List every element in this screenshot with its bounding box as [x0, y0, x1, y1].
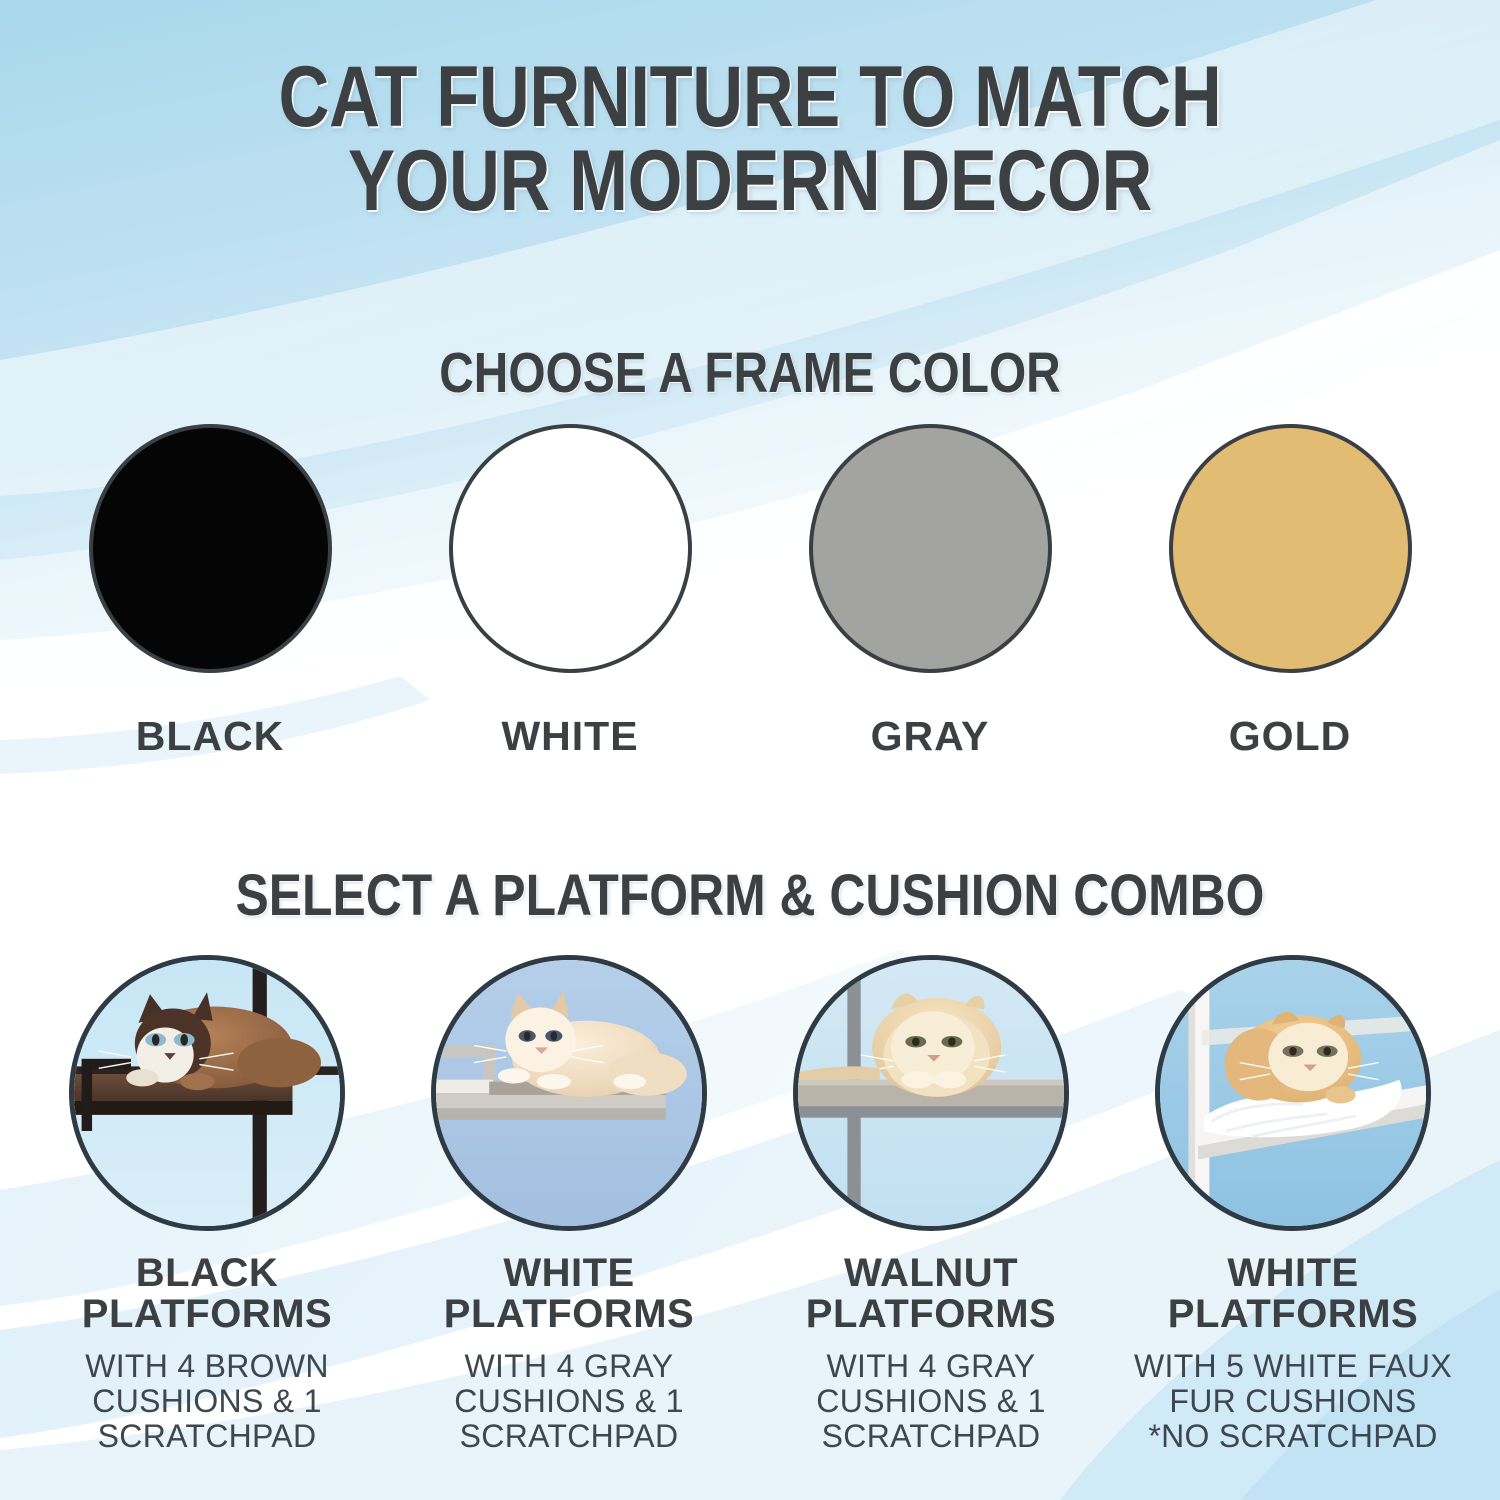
combo-title-3: WALNUT PLATFORMS	[806, 1253, 1056, 1335]
swatch-label-black: BLACK	[136, 713, 284, 760]
photo-cream-cat-white-platform[interactable]	[431, 955, 707, 1231]
combo-sub-1: WITH 4 BROWN CUSHIONS & 1 SCRATCHPAD	[85, 1349, 329, 1455]
swatch-dot-black[interactable]	[89, 424, 332, 673]
combo-title-2-line1: WHITE	[503, 1251, 634, 1295]
combo-title-2: WHITE PLATFORMS	[444, 1253, 694, 1335]
combo-sub-3-line1: WITH 4 GRAY	[827, 1348, 1036, 1384]
swatch-label-gold: GOLD	[1229, 713, 1351, 760]
combo-sub-2-line2: CUSHIONS & 1	[454, 1383, 683, 1419]
swatch-dot-white[interactable]	[449, 424, 692, 673]
combo-option-walnut-platforms[interactable]: WALNUT PLATFORMS WITH 4 GRAY CUSHIONS & …	[771, 955, 1091, 1454]
swatch-label-gray: GRAY	[871, 713, 990, 760]
swatch-dot-gray[interactable]	[809, 424, 1052, 673]
photo-golden-cat-faux-fur-cushion[interactable]	[1155, 955, 1431, 1231]
frame-color-heading: CHOOSE A FRAME COLOR	[120, 340, 1380, 406]
page-title-line2: YOUR MODERN DECOR	[135, 139, 1365, 223]
combo-title-4-line1: WHITE	[1227, 1251, 1358, 1295]
combo-sub-4-line1: WITH 5 WHITE FAUX	[1134, 1348, 1452, 1384]
combo-title-4-line2: PLATFORMS	[1168, 1292, 1418, 1336]
frame-swatch-white[interactable]: WHITE	[425, 424, 715, 760]
frame-color-swatch-row: BLACK WHITE GRAY GOLD	[0, 424, 1500, 760]
combo-title-3-line1: WALNUT	[844, 1251, 1018, 1295]
photo-golden-cat-walnut-platform[interactable]	[793, 955, 1069, 1231]
combo-title-4: WHITE PLATFORMS	[1168, 1253, 1418, 1335]
combo-sub-1-line2: CUSHIONS & 1	[92, 1383, 321, 1419]
frame-swatch-black[interactable]: BLACK	[65, 424, 355, 760]
platform-cushion-heading: SELECT A PLATFORM & CUSHION COMBO	[105, 862, 1395, 929]
combo-option-white-platforms-faux-fur[interactable]: WHITE PLATFORMS WITH 5 WHITE FAUX FUR CU…	[1133, 955, 1453, 1454]
combo-title-1-line1: BLACK	[136, 1251, 278, 1295]
combo-title-3-line2: PLATFORMS	[806, 1292, 1056, 1336]
combo-sub-1-line3: SCRATCHPAD	[98, 1418, 317, 1454]
page-title-line1: CAT FURNITURE TO MATCH	[279, 49, 1222, 145]
swatch-label-white: WHITE	[501, 713, 638, 760]
frame-swatch-gold[interactable]: GOLD	[1145, 424, 1435, 760]
combo-title-2-line2: PLATFORMS	[444, 1292, 694, 1336]
platform-cushion-row: BLACK PLATFORMS WITH 4 BROWN CUSHIONS & …	[0, 955, 1500, 1454]
combo-sub-4: WITH 5 WHITE FAUX FUR CUSHIONS *NO SCRAT…	[1134, 1349, 1452, 1455]
combo-sub-1-line1: WITH 4 BROWN	[85, 1348, 329, 1384]
combo-sub-2: WITH 4 GRAY CUSHIONS & 1 SCRATCHPAD	[454, 1349, 683, 1455]
swatch-dot-gold[interactable]	[1169, 424, 1412, 673]
combo-sub-3-line2: CUSHIONS & 1	[816, 1383, 1045, 1419]
combo-sub-2-line3: SCRATCHPAD	[460, 1418, 679, 1454]
page-title: CAT FURNITURE TO MATCH YOUR MODERN DECOR	[135, 55, 1365, 224]
frame-swatch-gray[interactable]: GRAY	[785, 424, 1075, 760]
combo-sub-4-line3: *NO SCRATCHPAD	[1148, 1418, 1437, 1454]
combo-sub-2-line1: WITH 4 GRAY	[465, 1348, 674, 1384]
combo-title-1: BLACK PLATFORMS	[82, 1253, 332, 1335]
combo-sub-4-line2: FUR CUSHIONS	[1169, 1383, 1416, 1419]
combo-sub-3-line3: SCRATCHPAD	[822, 1418, 1041, 1454]
combo-sub-3: WITH 4 GRAY CUSHIONS & 1 SCRATCHPAD	[816, 1349, 1045, 1455]
combo-option-black-platforms[interactable]: BLACK PLATFORMS WITH 4 BROWN CUSHIONS & …	[47, 955, 367, 1454]
photo-siamese-cat-black-platform[interactable]	[69, 955, 345, 1231]
combo-title-1-line2: PLATFORMS	[82, 1292, 332, 1336]
combo-option-white-platforms-gray[interactable]: WHITE PLATFORMS WITH 4 GRAY CUSHIONS & 1…	[409, 955, 729, 1454]
